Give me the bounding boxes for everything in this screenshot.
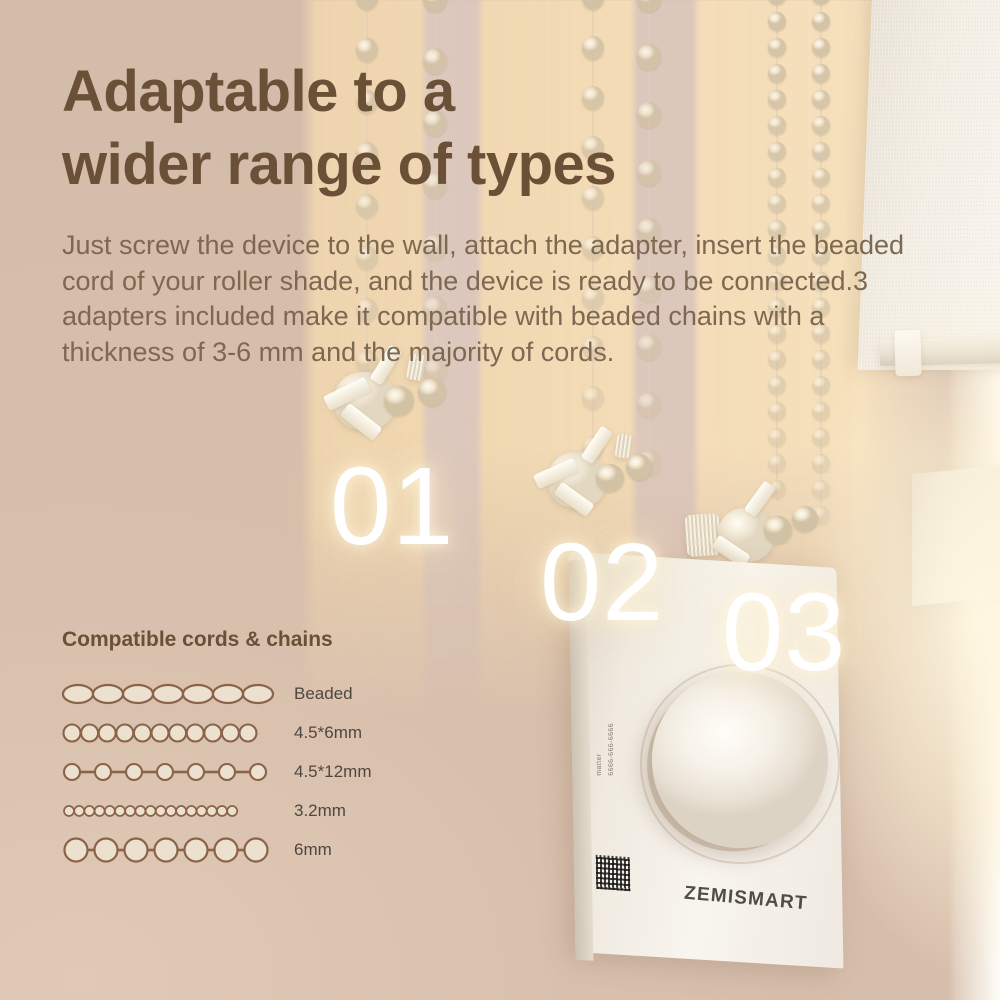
chain-bead bbox=[582, 0, 604, 10]
qr-code-icon bbox=[596, 855, 631, 891]
cord-row: 4.5*12mm bbox=[62, 752, 462, 791]
product-marketing-image: matter 6666-666-6666 ZEMISMART 010203 Ad… bbox=[0, 0, 1000, 1000]
step-number-01: 01 bbox=[330, 452, 454, 562]
description-text: Just screw the device to the wall, attac… bbox=[62, 228, 922, 371]
device-label-matter: matter bbox=[596, 685, 603, 776]
chain-bead bbox=[423, 0, 447, 12]
chain-spaced-circle-icon bbox=[62, 759, 280, 785]
chain-tiny-circle-icon bbox=[62, 798, 280, 824]
cord-row-label: Beaded bbox=[294, 684, 353, 704]
cord-row: 6mm bbox=[62, 830, 462, 869]
compatible-cords-title: Compatible cords & chains bbox=[62, 628, 462, 652]
chain-bead bbox=[356, 0, 378, 10]
cord-row: Beaded bbox=[62, 674, 462, 713]
chain-large-circle-icon bbox=[62, 837, 280, 863]
compatible-cords-list: Beaded4.5*6mm4.5*12mm3.2mm6mm bbox=[62, 674, 462, 869]
cord-row: 3.2mm bbox=[62, 791, 462, 830]
device-label-code: 6666-666-6666 bbox=[608, 685, 615, 776]
cord-row-label: 6mm bbox=[294, 840, 332, 860]
cord-row: 4.5*6mm bbox=[62, 713, 462, 752]
cord-row-label: 3.2mm bbox=[294, 801, 346, 821]
step-number-03: 03 bbox=[722, 578, 846, 688]
chain-small-circle-icon bbox=[62, 720, 280, 746]
chain-oval-icon bbox=[62, 681, 280, 707]
page-title-line-2: wider range of types bbox=[62, 129, 782, 202]
chain-bead bbox=[582, 386, 604, 410]
cord-row-label: 4.5*6mm bbox=[294, 723, 362, 743]
page-title: Adaptable to a wider range of types bbox=[62, 56, 782, 201]
page-title-line-1: Adaptable to a bbox=[62, 56, 782, 129]
cord-row-label: 4.5*12mm bbox=[294, 762, 371, 782]
step-number-02: 02 bbox=[540, 528, 664, 638]
compatible-cords-section: Compatible cords & chains Beaded4.5*6mm4… bbox=[62, 628, 462, 869]
